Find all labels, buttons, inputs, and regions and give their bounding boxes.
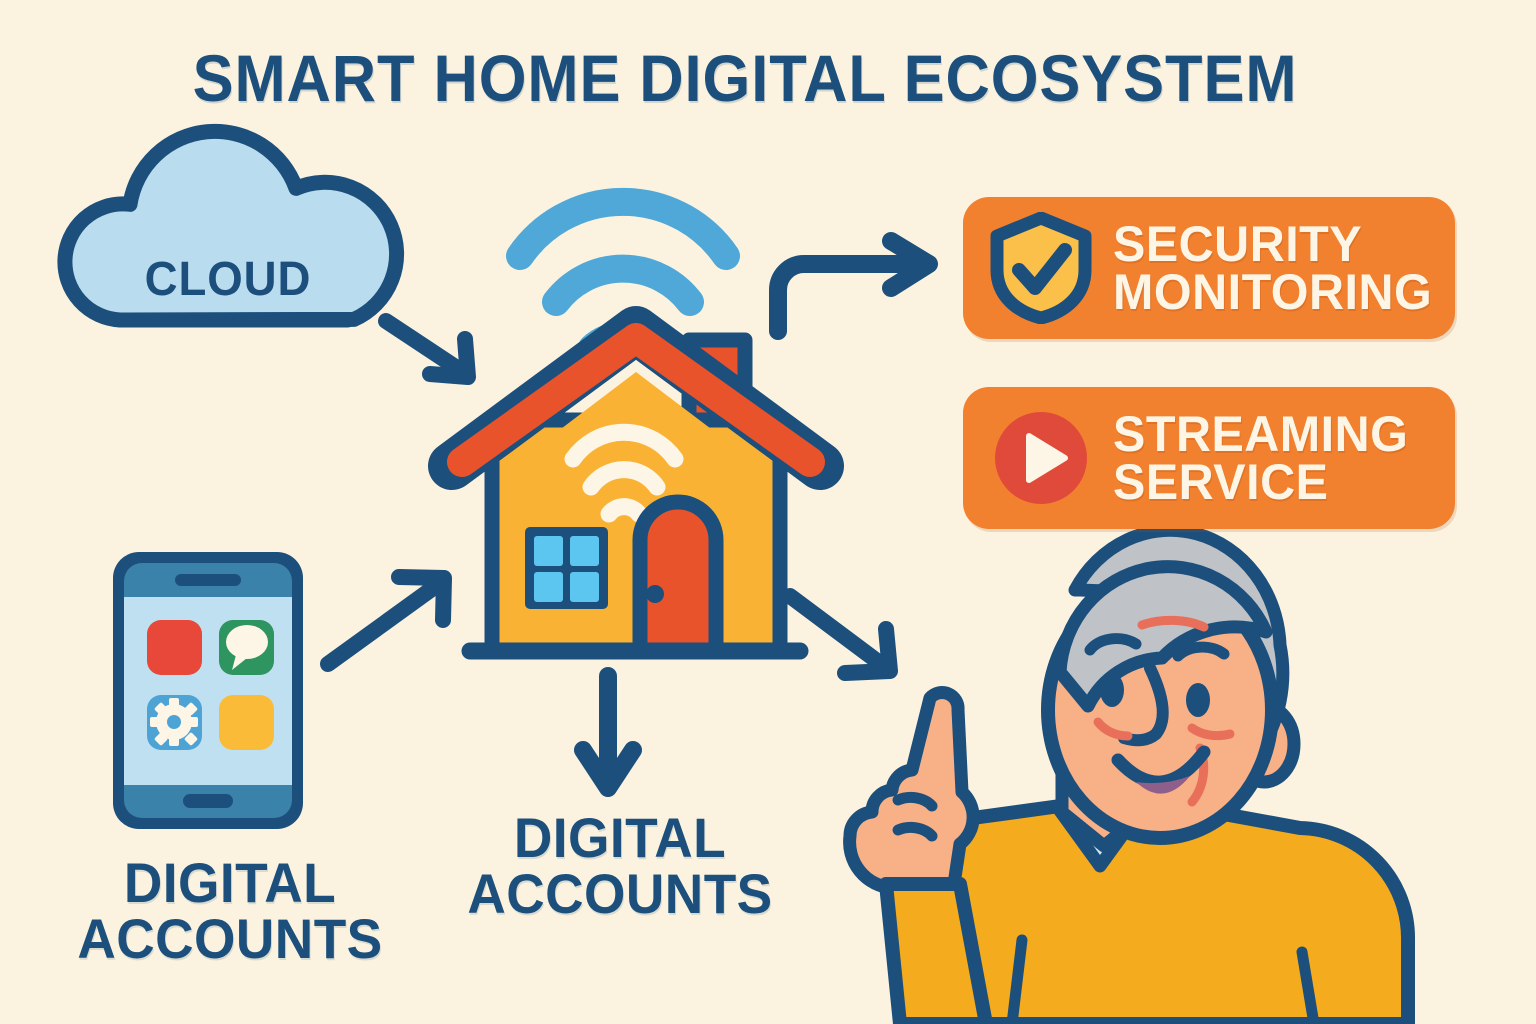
label-house-line1: DIGITAL [430,810,810,866]
card-streaming-line2: SERVICE [1113,458,1408,506]
card-security-monitoring[interactable]: SECURITY MONITORING [963,197,1455,339]
app-tile-red [147,620,202,675]
arrow-house-to-security [778,241,929,331]
cloud-label: CLOUD [95,252,361,307]
card-streaming-service[interactable]: STREAMING SERVICE [963,387,1455,529]
card-streaming-line1: STREAMING [1113,410,1408,458]
card-security-label: SECURITY MONITORING [1113,220,1432,316]
card-streaming-label: STREAMING SERVICE [1113,410,1408,506]
arrow-house-to-accounts [583,676,633,788]
app-tile-yellow [219,695,274,750]
arrow-phone-to-house [328,577,444,664]
arrow-house-to-person [790,596,890,673]
illustration-canvas: SMART HOME DIGITAL ECOSYSTEM [0,0,1536,1024]
card-security-line1: SECURITY [1113,220,1432,268]
label-phone-line1: DIGITAL [31,855,430,911]
label-house-line2: ACCOUNTS [430,866,810,922]
smart-home-icon[interactable] [452,330,820,651]
label-house-digital-accounts: DIGITAL ACCOUNTS [430,810,810,922]
label-phone-line2: ACCOUNTS [31,911,430,967]
label-phone-digital-accounts: DIGITAL ACCOUNTS [31,855,430,967]
smartphone-icon[interactable] [113,552,303,829]
page-title: SMART HOME DIGITAL ECOSYSTEM [52,40,1438,116]
arrow-cloud-to-house [386,321,468,377]
elderly-man-pointing-icon[interactable] [850,530,1408,1024]
card-security-line2: MONITORING [1113,268,1432,316]
shield-check-icon [989,212,1093,324]
play-circle-icon [989,406,1093,510]
